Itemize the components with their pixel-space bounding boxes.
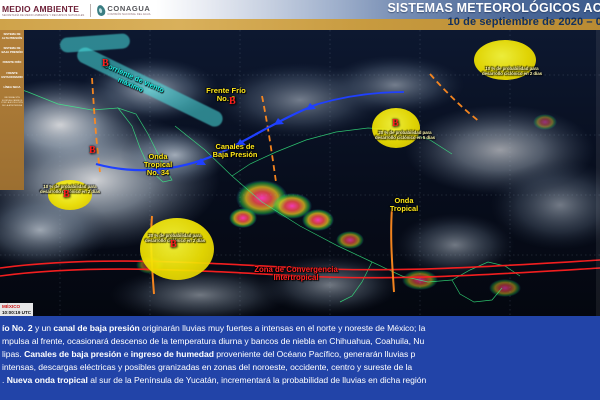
page-title: SISTEMAS METEOROLÓGICOS AC <box>182 0 600 16</box>
cyclone-area-atlantic-east-shape <box>474 40 536 80</box>
brand-lockup: MEDIO AMBIENTE SECRETARÍA DE MEDIO AMBIE… <box>0 1 151 19</box>
conagua-logo: CONAGUA COMISIÓN NACIONAL DEL AGUA <box>97 4 150 16</box>
bulletin-line-1: ío No. 2 y un canal de baja presión orig… <box>2 322 598 335</box>
legend-item-0: SISTEMA DE ALTA PRESIÓN <box>1 33 23 40</box>
satellite-map[interactable]: SISTEMA DE ALTA PRESIÓN SISTEMA DE BAJA … <box>0 30 600 316</box>
map-legend: SISTEMA DE ALTA PRESIÓN SISTEMA DE BAJA … <box>0 30 24 190</box>
low-pressure-marker-4: B <box>170 239 177 250</box>
bulletin-text-block: ío No. 2 y un canal de baja presión orig… <box>0 316 600 400</box>
semarnat-sublabel: SECRETARÍA DE MEDIO AMBIENTE Y RECURSOS … <box>2 14 84 17</box>
bulletin-line-3-a: lipas. <box>2 349 24 359</box>
bulletin-line-1-b: y un <box>33 323 54 333</box>
bulletin-line-3: lipas. Canales de baja presión e ingreso… <box>2 348 598 361</box>
weather-bulletin-screenshot: MEDIO AMBIENTE SECRETARÍA DE MEDIO AMBIE… <box>0 0 600 400</box>
bulletin-line-1-d: originarán lluvias muy fuertes a intensa… <box>140 323 426 333</box>
bulletin-line-4: intensas, descargas eléctricas y posible… <box>2 361 598 374</box>
semarnat-logo-text: MEDIO AMBIENTE SECRETARÍA DE MEDIO AMBIE… <box>2 4 84 17</box>
legend-item-2: FRENTE FRÍO <box>1 61 23 65</box>
low-pressure-marker-6: B <box>392 118 399 129</box>
header-title-block: SISTEMAS METEOROLÓGICOS AC 10 de septiem… <box>182 0 600 29</box>
brand-divider <box>90 4 91 17</box>
low-pressure-marker-1: B <box>102 58 109 69</box>
conagua-name: CONAGUA <box>107 4 150 13</box>
legend-item-4: LÍNEA SECA <box>1 86 23 90</box>
semarnat-label: MEDIO AMBIENTE <box>2 4 79 14</box>
bulletin-line-1-c: canal de baja presión <box>53 323 139 333</box>
bulletin-line-2: mpulsa al frente, ocasionará descenso de… <box>2 335 598 348</box>
bulletin-line-5-c: al sur de la Península de Yucatán, incre… <box>88 375 426 385</box>
water-drop-icon <box>96 4 107 17</box>
low-pressure-marker-3: B <box>63 189 70 200</box>
satellite-timestamp: MÉXICO 10:00:19 UTC <box>0 303 33 316</box>
low-pressure-marker-5: B <box>229 96 236 107</box>
conagua-sublabel: COMISIÓN NACIONAL DEL AGUA <box>107 13 150 16</box>
bulletin-line-5-b: Nueva onda tropical <box>7 375 88 385</box>
bulletin-line-3-e: proveniente del Océano Pacífico, generar… <box>214 349 415 359</box>
cyclone-area-pacific-west-shape <box>48 180 92 210</box>
conagua-label: CONAGUA COMISIÓN NACIONAL DEL AGUA <box>107 4 150 16</box>
timestamp-time: 10:00:19 UTC <box>2 310 31 315</box>
bulletin-date: 10 de septiembre de 2020 – 0 <box>182 16 600 29</box>
bulletin-line-3-d: ingreso de humedad <box>131 349 214 359</box>
bulletin-line-1-a: ío No. 2 <box>2 323 33 333</box>
page-scrollbar[interactable] <box>596 30 600 316</box>
page-header: MEDIO AMBIENTE SECRETARÍA DE MEDIO AMBIE… <box>0 0 600 30</box>
legend-item-1: SISTEMA DE BAJA PRESIÓN <box>1 47 23 54</box>
bulletin-line-3-b: Canales de baja presión <box>24 349 121 359</box>
cyclone-area-pacific-south-shape <box>140 218 214 280</box>
low-pressure-marker-2: B <box>89 145 96 156</box>
bulletin-line-5: . Nueva onda tropical al sur de la Penín… <box>2 374 598 387</box>
legend-item-3: FRENTE ESTACIONARIO <box>1 72 23 79</box>
bulletin-line-3-c: e <box>121 349 130 359</box>
legend-disclaimer: INFORMACIÓN SUJETA A CAMBIOS POR LA EVOL… <box>1 97 23 108</box>
